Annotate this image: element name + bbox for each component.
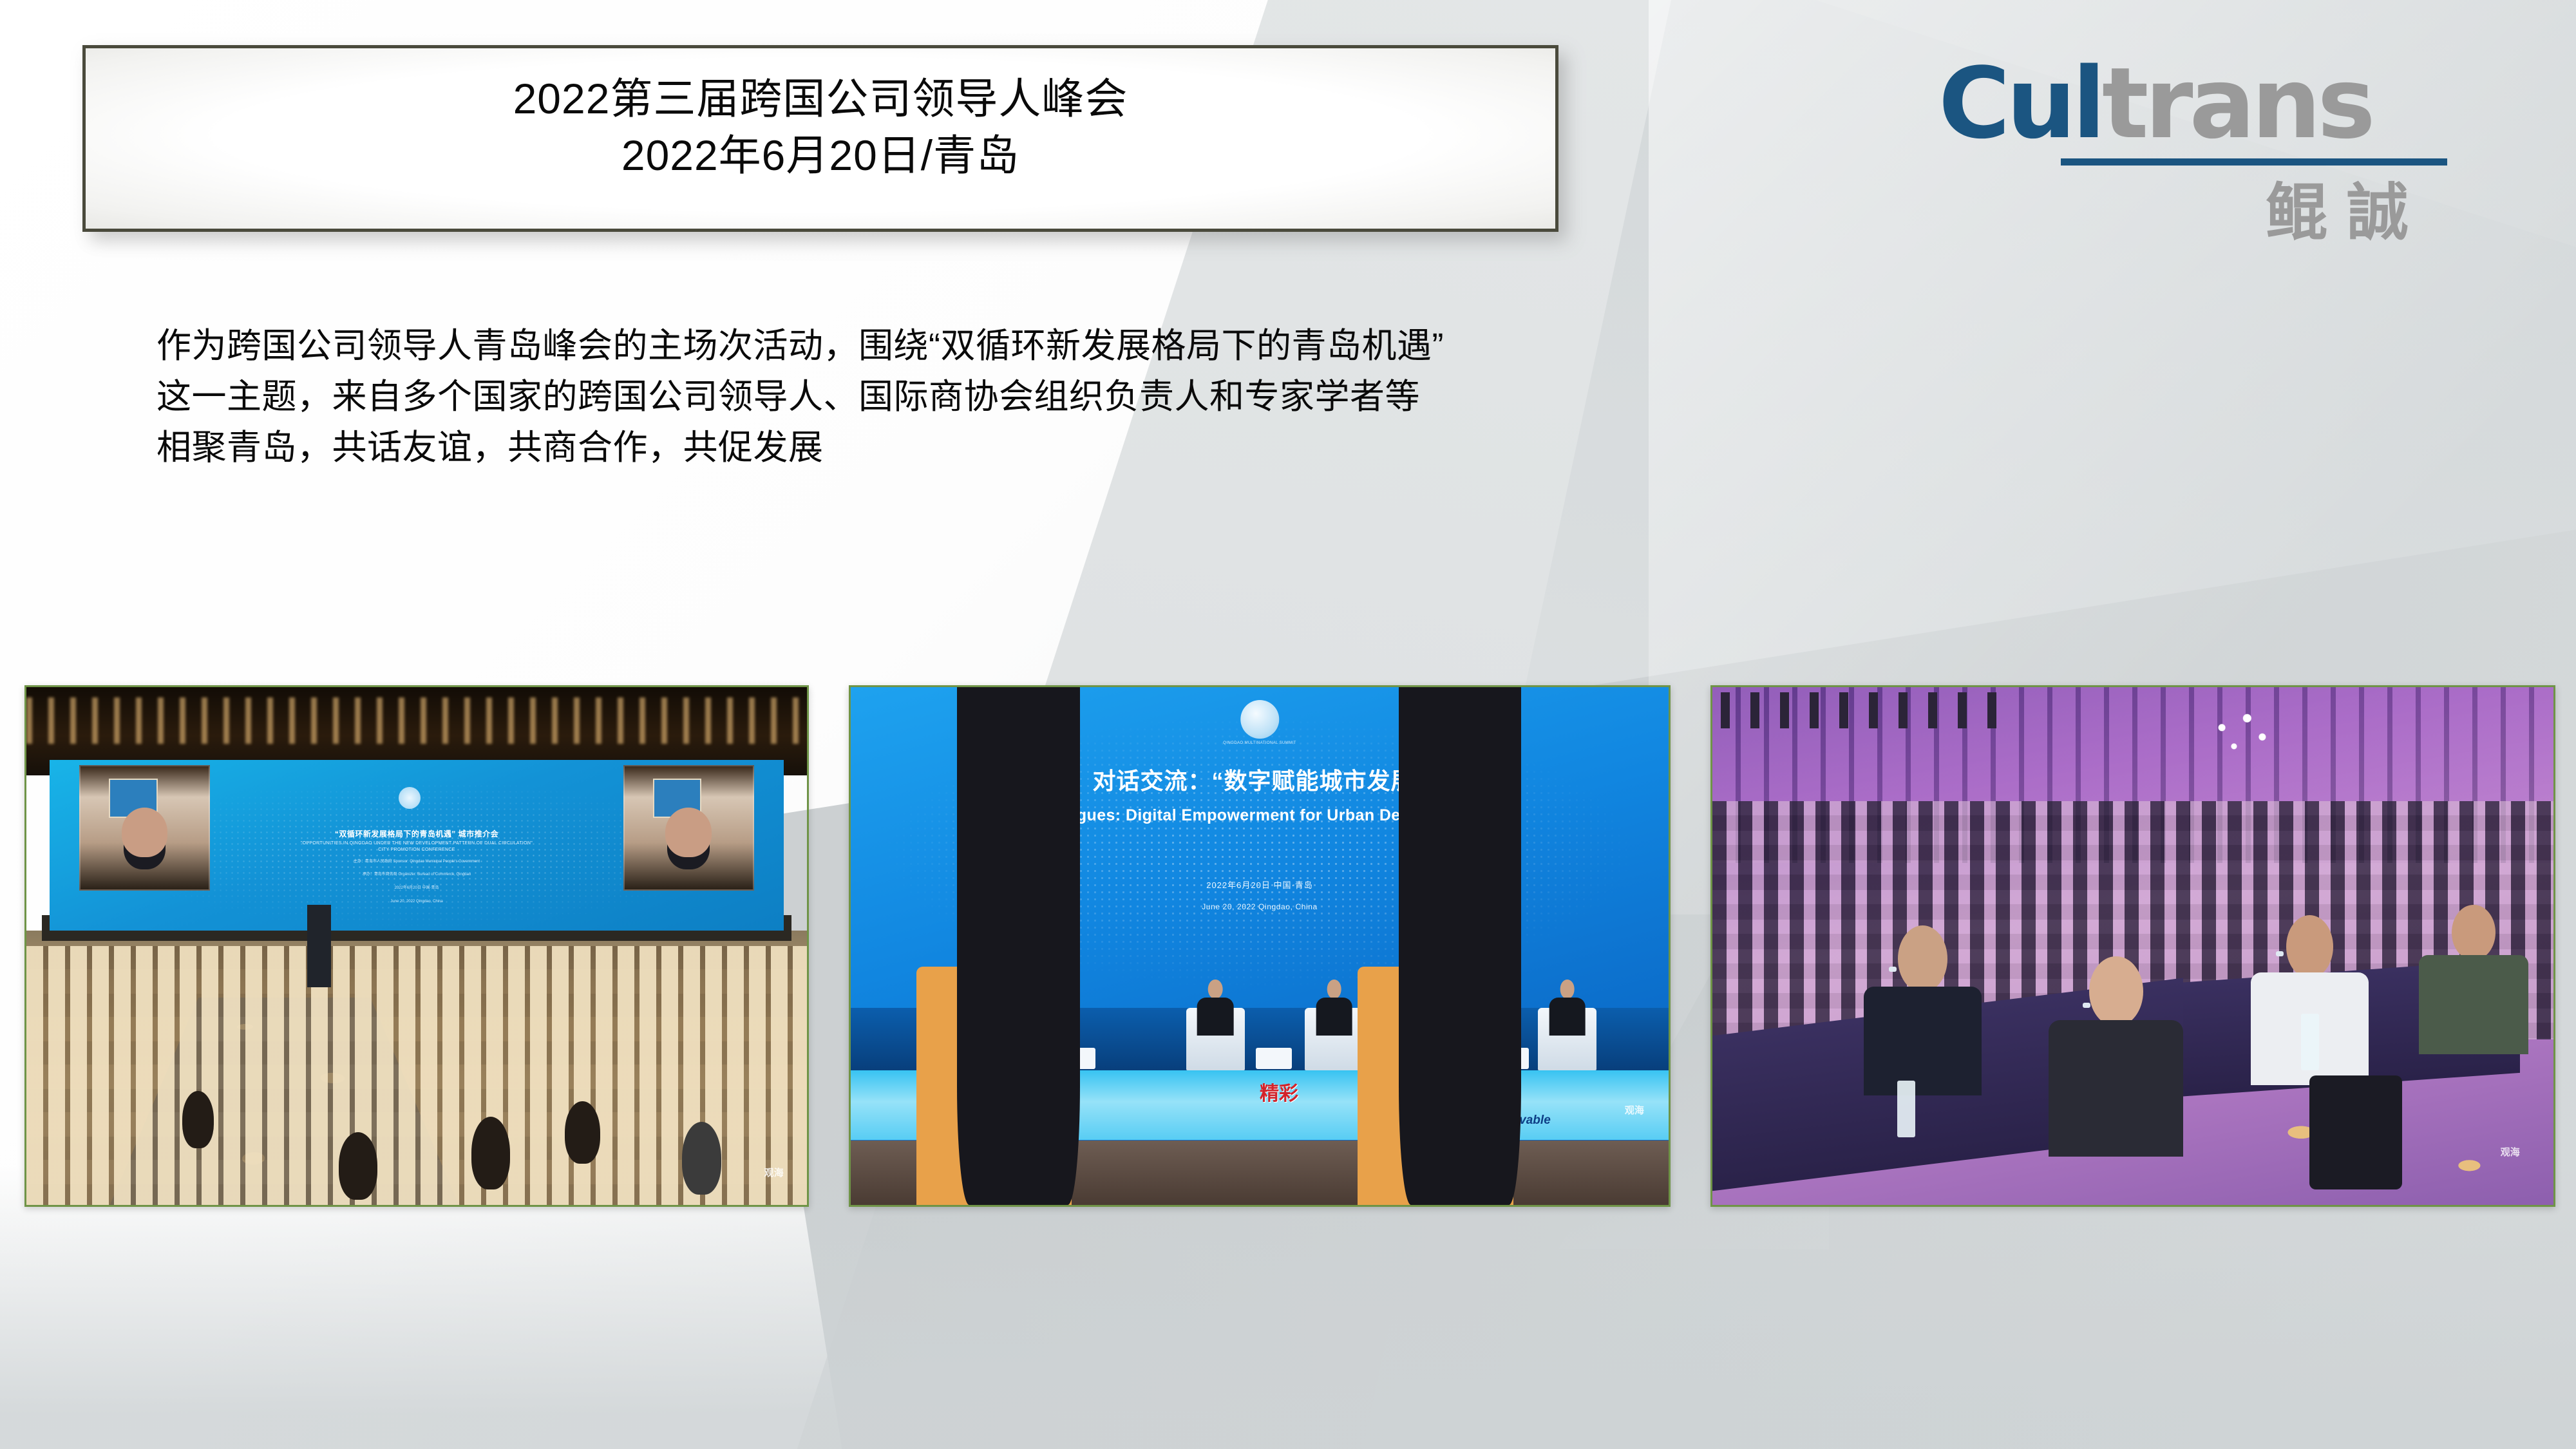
p1-speaker-video-left: [79, 765, 210, 891]
p2-emblem-caption: QINGDAO MULTINATIONAL SUMMIT: [1223, 741, 1296, 745]
logo-word-part2: trans: [2102, 46, 2372, 160]
p2-foreground-attendee: [1399, 687, 1522, 1205]
p1-watermark: 观海: [764, 1166, 784, 1179]
p1-speaker-video-right: [623, 765, 754, 891]
p1-ceiling-lights: [26, 697, 807, 744]
p2-watermark: 观海: [1625, 1103, 1644, 1117]
body-line-3: 相聚青岛，共话友谊，共商合作，共促发展: [156, 422, 1612, 473]
p1-attendee-head: [182, 1091, 213, 1148]
p1-screen-title-cn: “双循环新发展格局下的青岛机遇” 城市推介会: [241, 828, 593, 839]
body-line-1: 作为跨国公司领导人青岛峰会的主场次活动，围绕“双循环新发展格局下的青岛机遇”: [156, 321, 1612, 372]
p2-panelist-seat: [1538, 1008, 1596, 1070]
p3-chandelier-icon: [2192, 703, 2293, 764]
p1-screen-emblem-icon: [399, 787, 421, 809]
p1-camera-tripod: [307, 905, 330, 988]
p1-screen-title-en: "OPPORTUNITIES IN QINGDAO UNDER THE NEW …: [241, 841, 593, 846]
p1-attendee-head: [682, 1122, 721, 1195]
p1-screen-date-cn: 2022年6月20日 中国·青岛: [241, 885, 593, 892]
title-line-2: 2022年6月20日/青岛: [621, 127, 1019, 184]
p3-watermark: 观海: [2501, 1145, 2520, 1159]
p3-face-mask-icon: [2083, 1003, 2090, 1008]
p2-emblem-ring: [1240, 700, 1279, 739]
p3-delegate: [2049, 956, 2183, 1164]
p3-water-bottle: [1897, 1081, 1915, 1137]
photo-audience-delegates: 观海: [1710, 685, 2555, 1207]
slide-canvas: 2022第三届跨国公司领导人峰会 2022年6月20日/青岛 作为跨国公司领导人…: [0, 0, 2576, 1449]
p2-banner-cn-2: 精彩: [1260, 1077, 1298, 1106]
p1-speaker-head-right: [665, 808, 712, 857]
p3-lighting-rig: [1721, 692, 2007, 728]
photo-panel-dialogue: QINGDAO MULTINATIONAL SUMMIT 对话交流：“数字赋能城…: [849, 685, 1671, 1207]
company-logo: Cultrans 鲲誠: [1938, 57, 2447, 244]
body-line-2: 这一主题，来自多个国家的跨国公司领导人、国际商协会组织负责人和专家学者等: [156, 372, 1612, 422]
logo-word-part1: Cul: [1938, 46, 2102, 160]
p1-screen-date-en: June 20, 2022 Qingdao, China: [241, 898, 593, 905]
p2-foreground-attendee: [957, 687, 1080, 1205]
p2-panelist: [1316, 980, 1352, 1037]
title-line-1: 2022第三届跨国公司领导人峰会: [513, 70, 1128, 127]
p1-screen-text-block: “双循环新发展格局下的青岛机遇” 城市推介会 "OPPORTUNITIES IN…: [241, 828, 593, 905]
p3-backpack: [2309, 1075, 2402, 1189]
photo-conference-hall: “双循环新发展格局下的青岛机遇” 城市推介会 "OPPORTUNITIES IN…: [24, 685, 809, 1207]
background-bottom-gradient: [0, 1166, 2576, 1449]
body-paragraph: 作为跨国公司领导人青岛峰会的主场次活动，围绕“双循环新发展格局下的青岛机遇” 这…: [156, 321, 1612, 473]
p2-panelist-seat: [1186, 1008, 1245, 1070]
p1-led-screen: “双循环新发展格局下的青岛机遇” 城市推介会 "OPPORTUNITIES IN…: [50, 760, 783, 931]
p1-attendee-head: [565, 1101, 600, 1163]
logo-wordmark: Cultrans: [1938, 57, 2447, 151]
p1-screen-sponsor-line: 主办：青岛市人民政府 Sponsor: Qingdao Municipal Pe…: [241, 858, 593, 866]
title-box: 2022第三届跨国公司领导人峰会 2022年6月20日/青岛: [82, 45, 1558, 232]
p1-speaker-head-left: [122, 808, 168, 857]
p1-attendee-head: [339, 1132, 378, 1200]
p2-panelist: [1197, 980, 1234, 1037]
p3-delegate: [2419, 905, 2528, 1060]
p3-face-mask-icon: [2276, 951, 2284, 956]
p3-delegate: [1864, 925, 1982, 1101]
p2-side-table: [1256, 1048, 1292, 1069]
p1-screen-subtitle-en: CITY PROMOTION CONFERENCE: [241, 848, 593, 852]
p1-screen-organizer-line: 承办：青岛市商务局 Organizer: Bureau of Commerce,…: [241, 871, 593, 878]
p2-panelist-seat: [1305, 1008, 1363, 1070]
p1-attendee-head: [471, 1117, 511, 1189]
p2-panelist: [1549, 980, 1586, 1037]
p3-face-mask-icon: [1889, 967, 1897, 972]
logo-chinese-name: 鲲誠: [1938, 182, 2447, 244]
p3-water-bottle: [2301, 1014, 2318, 1070]
p2-summit-emblem-icon: QINGDAO MULTINATIONAL SUMMIT: [1223, 700, 1296, 745]
